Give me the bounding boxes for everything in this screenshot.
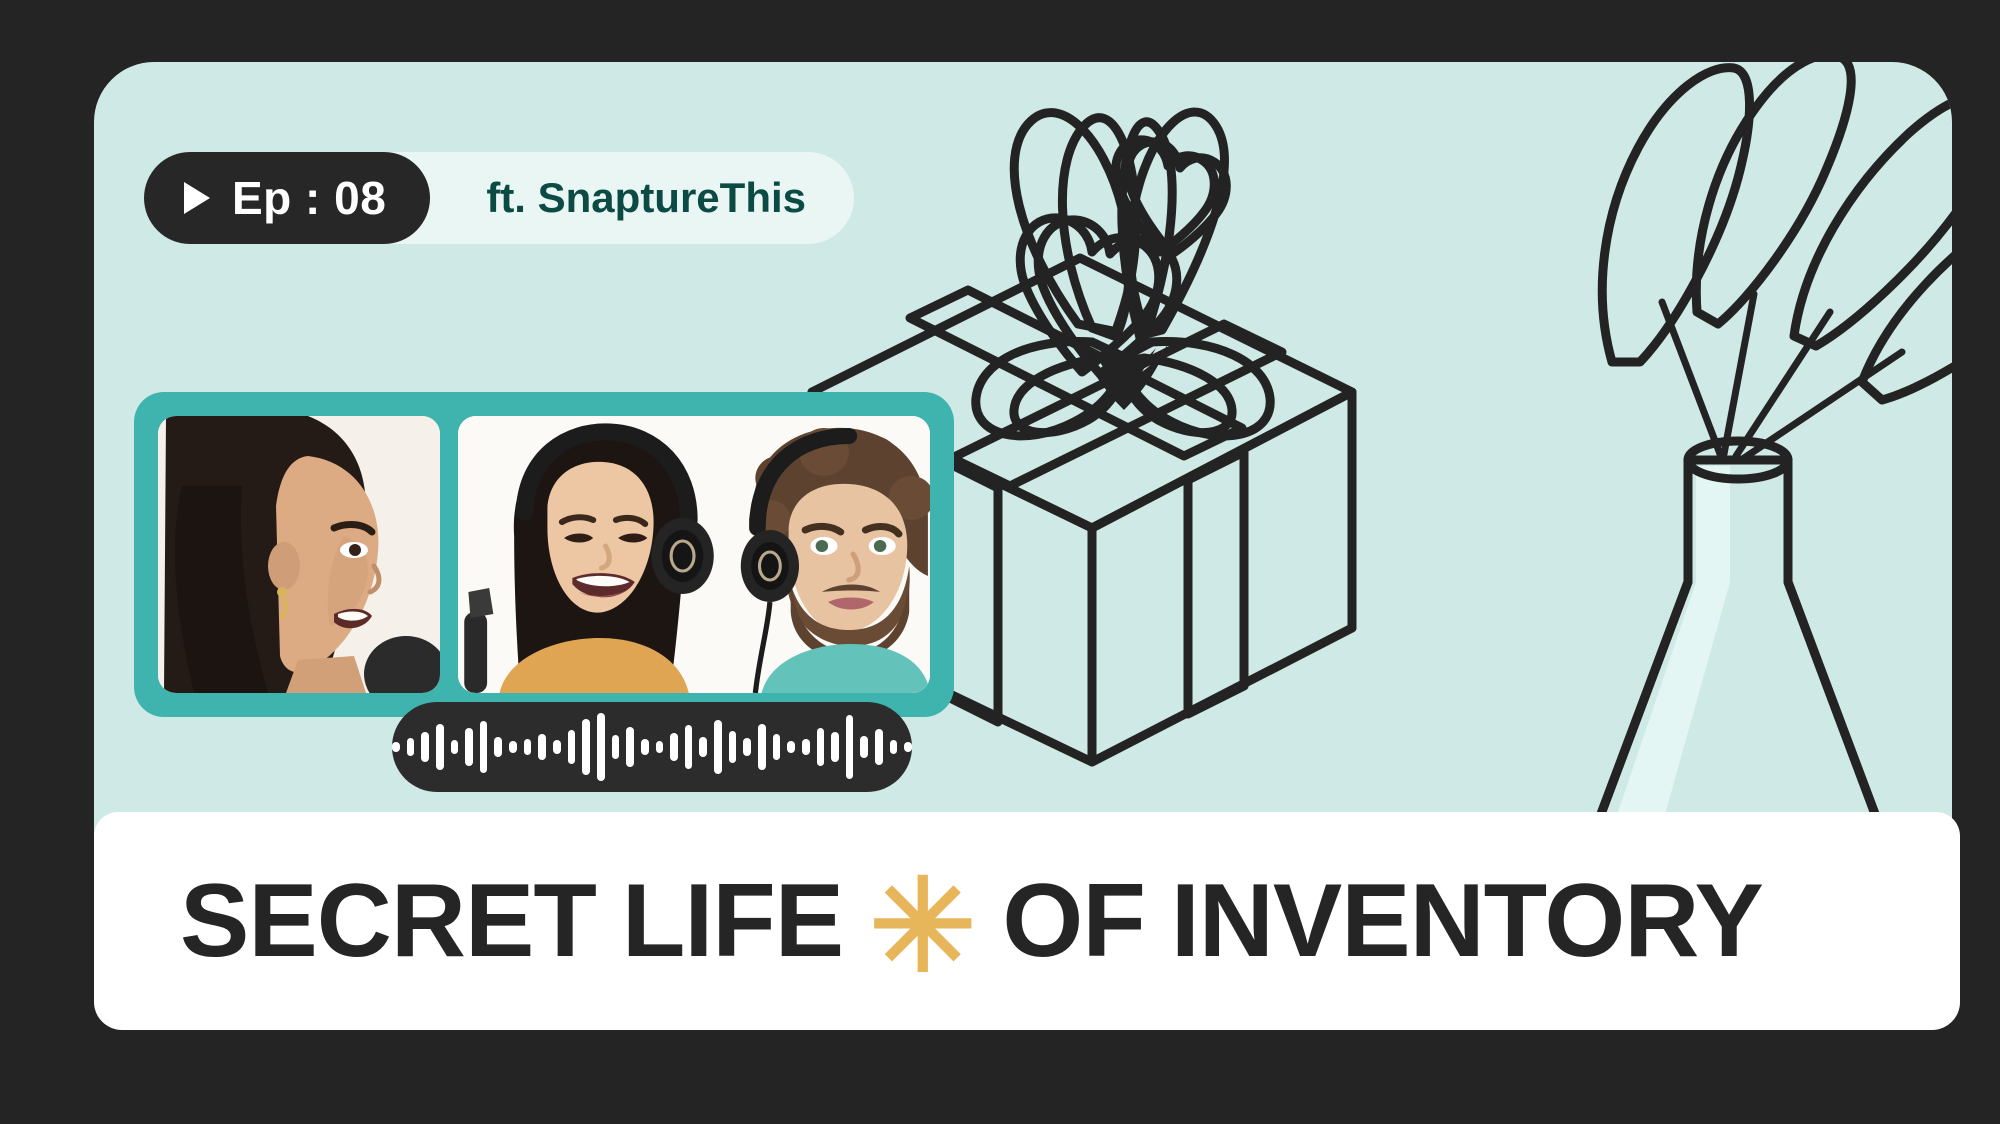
waveform-bar — [480, 721, 488, 773]
waveform-bar — [524, 739, 532, 755]
waveform-bar — [890, 740, 898, 754]
decorative-illustration: .ln{ fill:none; stroke:#232323; stroke-w… — [792, 62, 1952, 852]
photo-grid — [134, 392, 954, 717]
waveform-bar — [612, 735, 620, 759]
waveform-bar — [875, 729, 883, 765]
waveform-bar — [758, 724, 766, 770]
waveform-bar — [597, 713, 605, 781]
waveform-bar — [773, 734, 781, 760]
asterisk-icon: ✳ — [869, 889, 976, 966]
waveform-bar — [817, 728, 825, 766]
heart-large-icon — [1020, 218, 1177, 374]
waveform-bar — [743, 738, 751, 756]
episode-badge[interactable]: Ep : 08 — [144, 152, 430, 244]
waveform-bar — [392, 742, 400, 752]
play-triangle-icon[interactable] — [184, 182, 210, 214]
waveform-bar — [407, 738, 415, 756]
waveform-bar — [831, 732, 839, 762]
waveform-bar — [553, 740, 561, 754]
waveform-bar — [451, 740, 459, 754]
title-banner: SECRET LIFE ✳ OF INVENTORY — [94, 812, 1960, 1030]
waveform-bar — [568, 730, 576, 764]
guest-label: ft. SnaptureThis — [486, 174, 806, 222]
title-word-inventory: INVENTORY — [1171, 862, 1763, 981]
waveform-bar — [846, 715, 854, 779]
waveform-bar — [802, 739, 810, 755]
waveform-bar — [436, 724, 444, 770]
photo-guests-center-right — [458, 416, 930, 693]
photo-image — [458, 416, 930, 693]
waveform-bar — [626, 727, 634, 767]
waveform-bar — [509, 741, 517, 753]
vase-with-leaves-icon — [1598, 62, 1952, 822]
header-row: Ep : 08 ft. SnaptureThis — [144, 152, 854, 244]
waveform-bar — [699, 737, 707, 757]
waveform-bar — [421, 732, 429, 762]
waveform-bar — [714, 720, 722, 774]
waveform-bar — [787, 741, 795, 753]
photo-image — [158, 416, 440, 693]
waveform-bar — [538, 734, 546, 760]
waveform-bar — [685, 725, 693, 769]
episode-label: Ep : 08 — [232, 171, 386, 225]
waveform-bar — [729, 731, 737, 763]
waveform-bar — [670, 733, 678, 761]
waveform-bar — [465, 728, 473, 766]
waveform-bar — [656, 741, 664, 753]
title-word-of: OF — [1002, 862, 1144, 981]
title-word-secret: SECRET — [180, 862, 596, 981]
audio-waveform[interactable] — [392, 702, 912, 792]
title-word-life: LIFE — [622, 862, 843, 981]
waveform-bar — [860, 736, 868, 758]
waveform-bar — [582, 719, 590, 775]
waveform-bar — [494, 737, 502, 757]
photo-host-profile-left — [158, 416, 440, 693]
waveform-bar — [904, 742, 912, 752]
podcast-title: SECRET LIFE ✳ OF INVENTORY — [180, 862, 1763, 981]
waveform-bar — [641, 739, 649, 755]
